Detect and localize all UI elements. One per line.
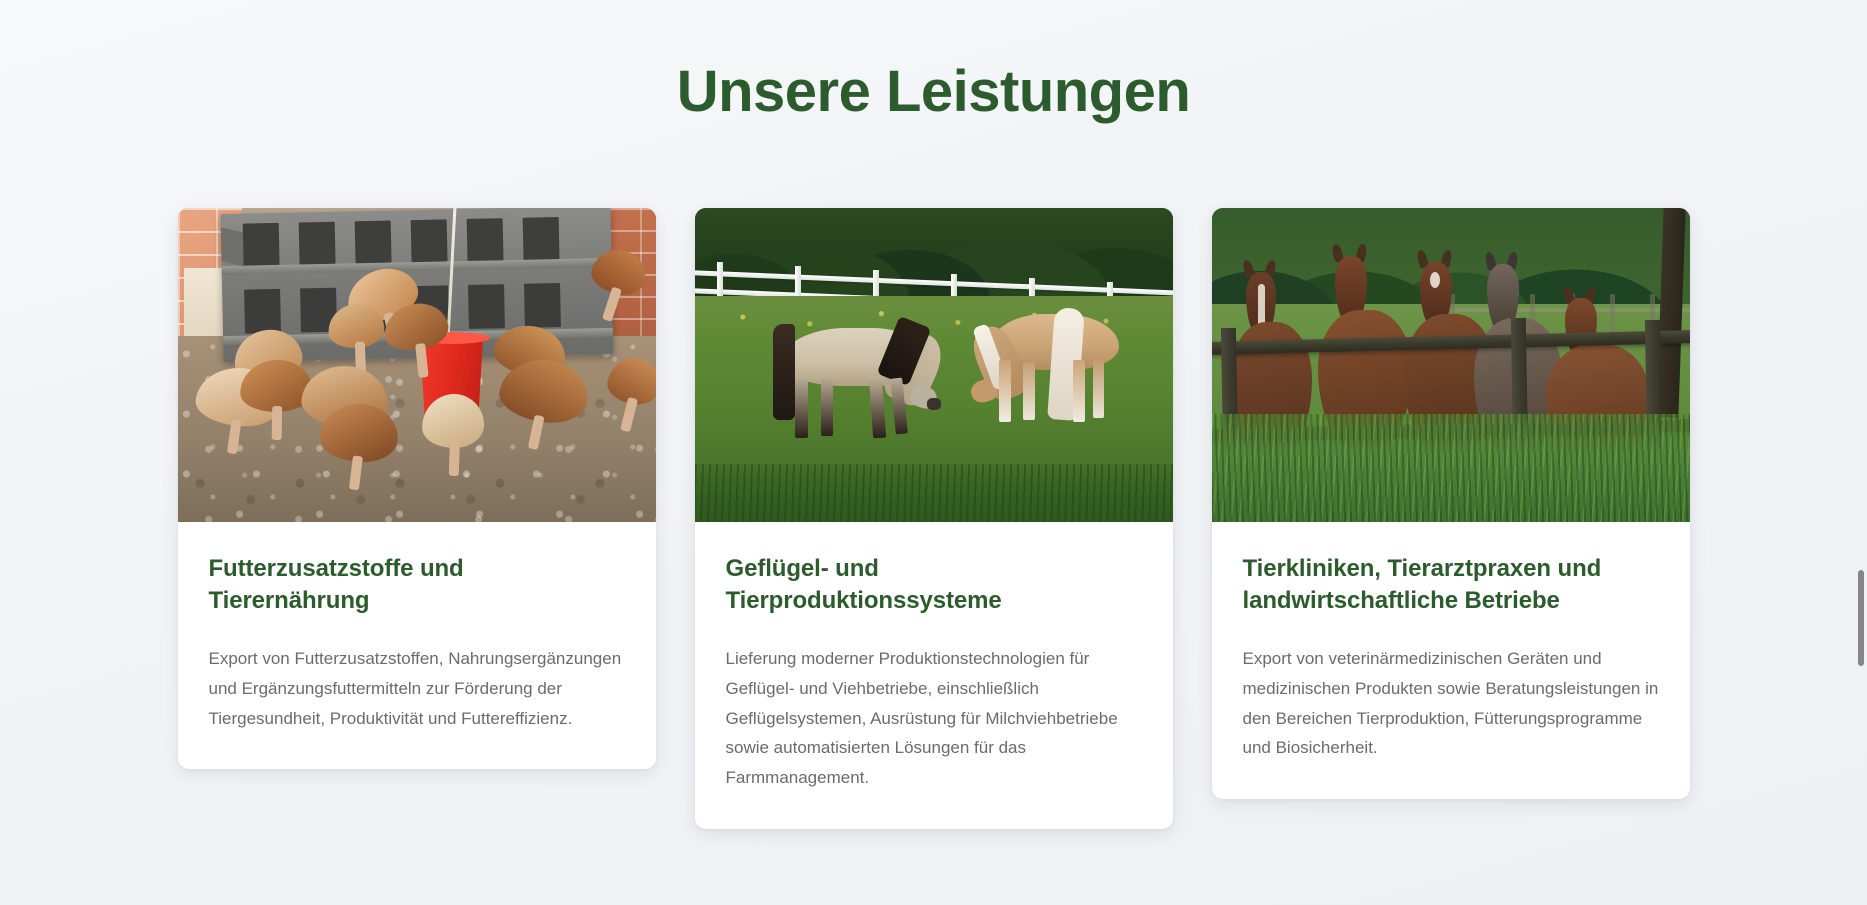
card-body: Geflügel- und Tierproduktionssysteme Lie… bbox=[695, 522, 1173, 829]
vertical-scrollbar-track[interactable] bbox=[1853, 0, 1867, 905]
card-body: Tierkliniken, Tierarztpraxen und landwir… bbox=[1212, 522, 1690, 799]
service-card[interactable]: Tierkliniken, Tierarztpraxen und landwir… bbox=[1212, 208, 1690, 799]
service-card[interactable]: Geflügel- und Tierproduktionssysteme Lie… bbox=[695, 208, 1173, 829]
vertical-scrollbar-thumb[interactable] bbox=[1858, 570, 1864, 666]
card-title: Futterzusatzstoffe und Tierernährung bbox=[209, 553, 625, 617]
card-title: Tierkliniken, Tierarztpraxen und landwir… bbox=[1243, 553, 1659, 617]
page-root: Unsere Leistungen bbox=[0, 0, 1867, 905]
grazing-horses-photo bbox=[695, 208, 1173, 522]
card-description: Export von Futterzusatzstoffen, Nahrungs… bbox=[209, 644, 625, 734]
page-title: Unsere Leistungen bbox=[0, 0, 1867, 125]
horse-herd-fence-photo bbox=[1212, 208, 1690, 522]
card-body: Futterzusatzstoffe und Tierernährung Exp… bbox=[178, 522, 656, 770]
chickens-feeding-photo bbox=[178, 208, 656, 522]
services-card-grid: Futterzusatzstoffe und Tierernährung Exp… bbox=[0, 208, 1867, 829]
card-description: Lieferung moderner Produktionstechnologi… bbox=[726, 644, 1142, 794]
card-title: Geflügel- und Tierproduktionssysteme bbox=[726, 553, 1142, 617]
card-description: Export von veterinärmedizinischen Geräte… bbox=[1243, 644, 1659, 764]
service-card[interactable]: Futterzusatzstoffe und Tierernährung Exp… bbox=[178, 208, 656, 770]
